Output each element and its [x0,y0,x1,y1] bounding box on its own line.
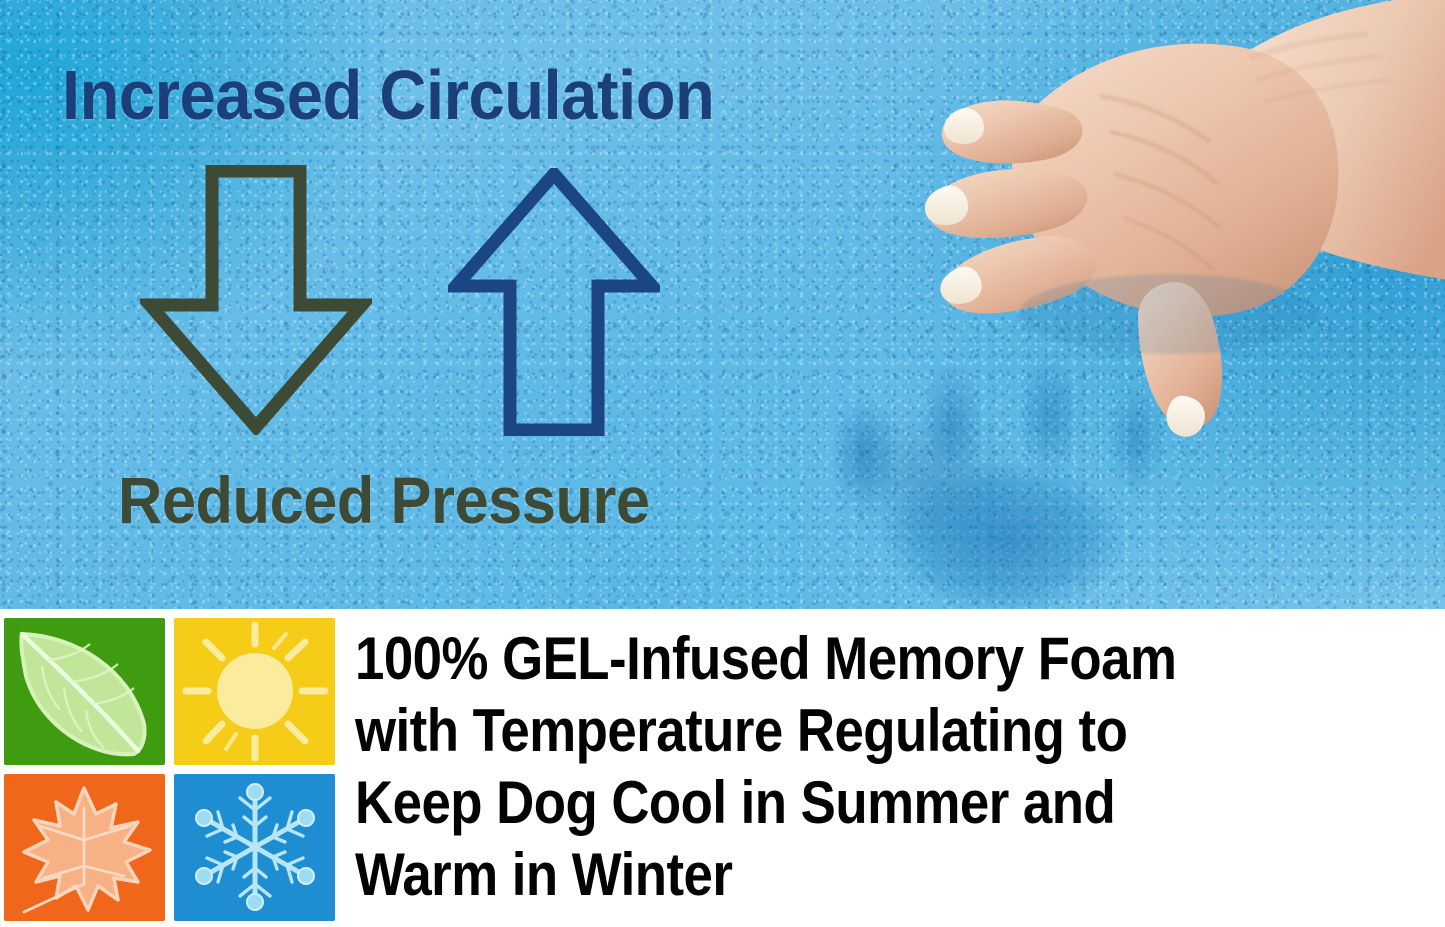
four-seasons-icon-grid [4,618,336,920]
memory-foam-photo: Increased Circulation Reduced Pressure [0,0,1445,609]
season-tile-autumn [4,774,165,921]
maple-leaf-icon [4,774,165,921]
season-tile-summer [174,618,335,765]
reduced-pressure-label: Reduced Pressure [118,462,650,538]
feature-bar: 100% GEL-Infused Memory Foam with Temper… [0,609,1445,927]
headline-line-2: with Temperature Regulating to [355,695,1305,767]
headline-line-4: Warm in Winter [355,839,1305,911]
down-arrow-icon [140,165,372,435]
season-tile-winter [174,774,335,921]
hand-pressing-foam [838,0,1445,454]
headline-line-1: 100% GEL-Infused Memory Foam [355,623,1305,695]
increased-circulation-label: Increased Circulation [62,55,714,135]
snowflake-icon [174,774,335,921]
season-tile-spring [4,618,165,765]
feature-headline: 100% GEL-Infused Memory Foam with Temper… [355,623,1435,911]
up-arrow-icon [448,168,660,436]
leaf-icon [4,618,165,765]
headline-line-3: Keep Dog Cool in Summer and [355,767,1305,839]
product-feature-graphic: Increased Circulation Reduced Pressure [0,0,1445,927]
sun-icon [174,618,335,765]
